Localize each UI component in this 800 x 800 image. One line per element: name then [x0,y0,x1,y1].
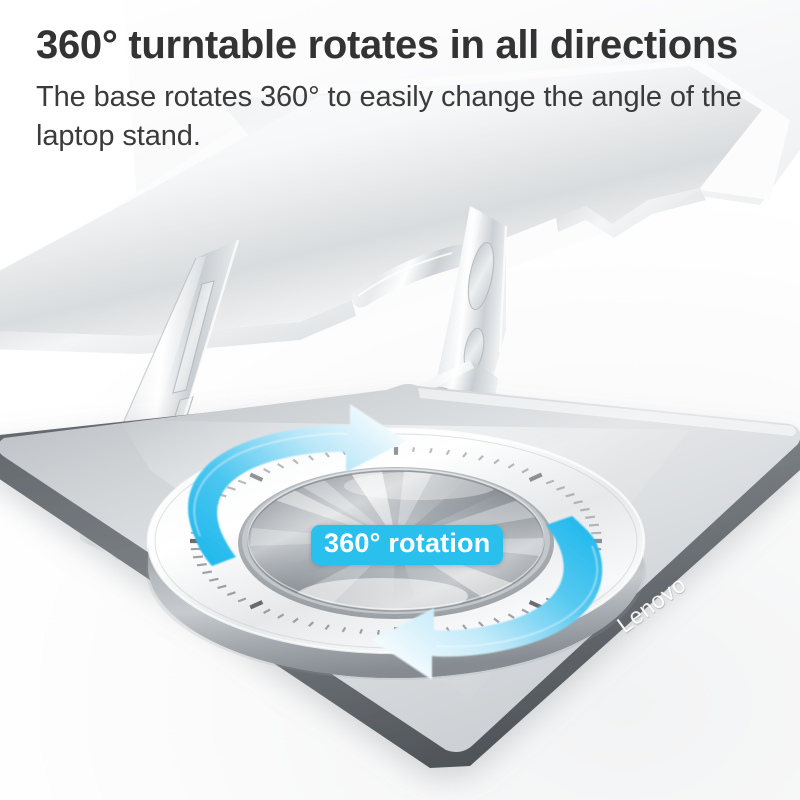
rotation-arrows [0,0,800,800]
rotation-badge: 360° rotation [311,525,503,565]
product-feature-image: Lenovo 360° rotation 360° turntable rota… [0,0,800,800]
